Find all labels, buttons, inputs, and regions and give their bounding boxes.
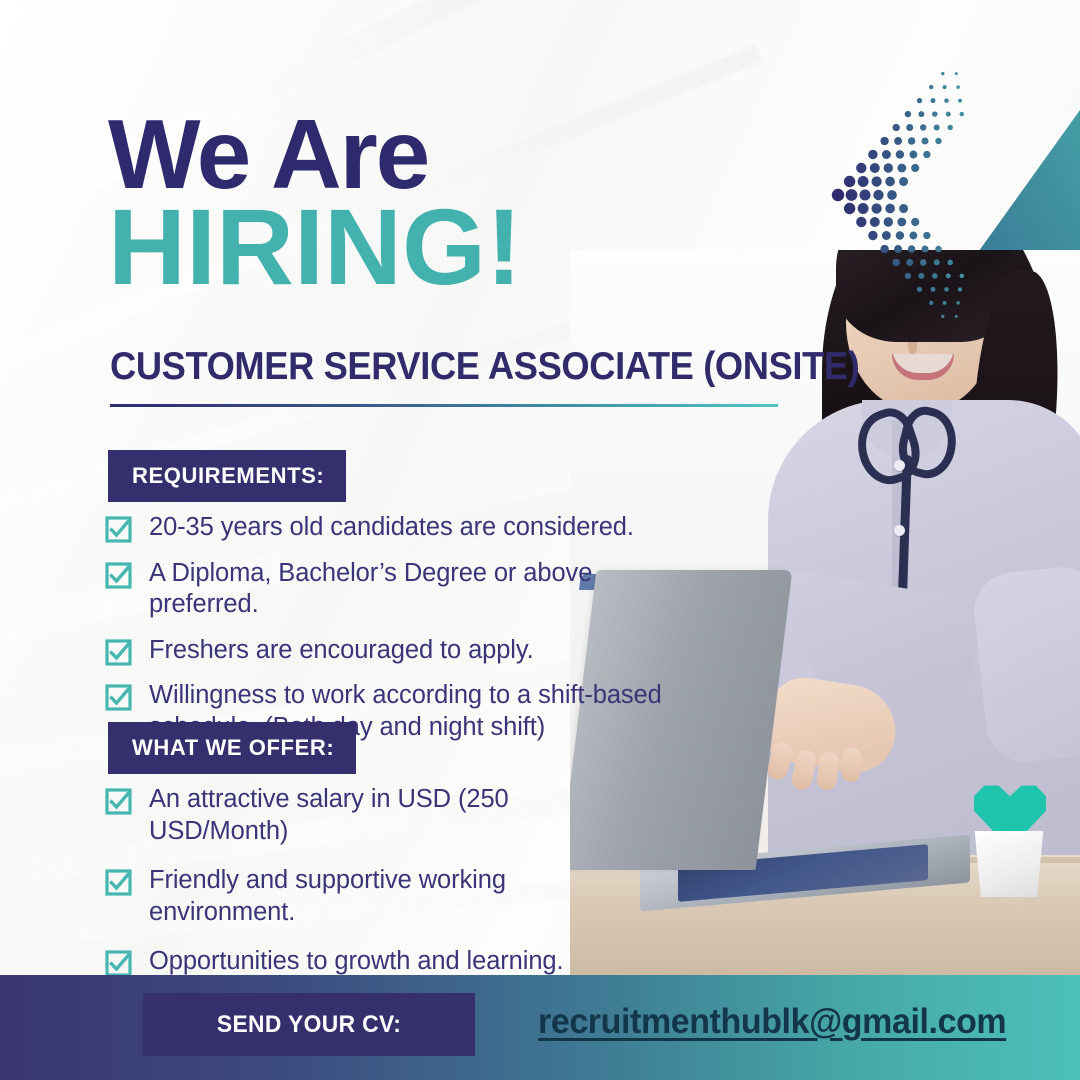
hiring-poster: We Are HIRING! CUSTOMER SERVICE ASSOCIAT… bbox=[0, 0, 1080, 1080]
list-item-label: An attractive salary in USD (250 USD/Mon… bbox=[149, 784, 625, 847]
checkbox-checked-icon bbox=[105, 639, 132, 666]
list-item-label: Friendly and supportive working environm… bbox=[149, 865, 625, 928]
list-item: An attractive salary in USD (250 USD/Mon… bbox=[105, 784, 625, 847]
email-link[interactable]: recruitmenthublk@gmail.com bbox=[538, 1002, 1006, 1042]
checkbox-checked-icon bbox=[105, 950, 132, 977]
checkbox-checked-icon bbox=[105, 516, 132, 543]
send-cv-label: SEND YOUR CV: bbox=[217, 1011, 401, 1039]
list-item: Friendly and supportive working environm… bbox=[105, 865, 625, 928]
checkbox-checked-icon bbox=[105, 684, 132, 711]
requirements-badge: REQUIREMENTS: bbox=[108, 450, 346, 502]
checkbox-checked-icon bbox=[105, 788, 132, 815]
offers-list: An attractive salary in USD (250 USD/Mon… bbox=[105, 784, 625, 996]
list-item: Freshers are encouraged to apply. bbox=[105, 635, 705, 667]
page-title: We Are HIRING! bbox=[108, 108, 522, 298]
checkbox-checked-icon bbox=[105, 562, 132, 589]
list-item: 20-35 years old candidates are considere… bbox=[105, 512, 705, 544]
offers-badge: WHAT WE OFFER: bbox=[108, 722, 356, 774]
job-title: CUSTOMER SERVICE ASSOCIATE (ONSITE) bbox=[110, 345, 859, 389]
list-item-label: A Diploma, Bachelor’s Degree or above pr… bbox=[149, 558, 705, 621]
list-item-label: Opportunities to growth and learning. bbox=[149, 946, 563, 978]
list-item: A Diploma, Bachelor’s Degree or above pr… bbox=[105, 558, 705, 621]
headline-line-2: HIRING! bbox=[108, 196, 522, 298]
list-item-label: 20-35 years old candidates are considere… bbox=[149, 512, 634, 544]
send-cv-box: SEND YOUR CV: bbox=[143, 993, 475, 1056]
title-divider bbox=[110, 404, 778, 407]
list-item-label: Freshers are encouraged to apply. bbox=[149, 635, 534, 667]
checkbox-checked-icon bbox=[105, 869, 132, 896]
list-item: Opportunities to growth and learning. bbox=[105, 946, 625, 978]
requirements-list: 20-35 years old candidates are considere… bbox=[105, 512, 705, 758]
